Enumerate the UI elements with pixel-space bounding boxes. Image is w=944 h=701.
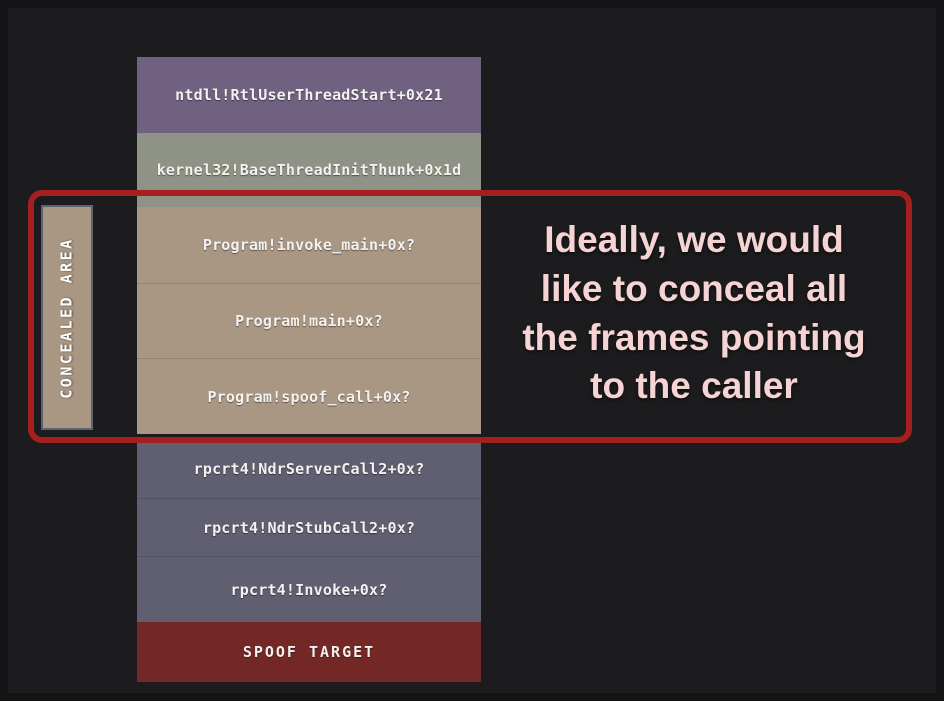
stack-frame: ntdll!RtlUserThreadStart+0x21 (137, 57, 481, 133)
stack-frame-label: rpcrt4!NdrServerCall2+0x? (194, 460, 425, 478)
caption-line: like to conceal all (492, 265, 896, 314)
concealed-area-tab: CONCEALED AREA (41, 205, 93, 430)
caption-text: Ideally, we wouldlike to conceal allthe … (492, 216, 896, 411)
slide-root: ntdll!RtlUserThreadStart+0x21kernel32!Ba… (0, 0, 944, 701)
stack-frame-label: SPOOF TARGET (243, 643, 375, 661)
stack-frame: rpcrt4!NdrServerCall2+0x? (137, 440, 481, 498)
stack-frame: Program!main+0x? (137, 283, 481, 358)
stack-frame: rpcrt4!NdrStubCall2+0x? (137, 498, 481, 556)
stack-frame-label: Program!spoof_call+0x? (207, 388, 410, 406)
caption-line: to the caller (492, 362, 896, 411)
call-stack-diagram: ntdll!RtlUserThreadStart+0x21kernel32!Ba… (137, 57, 481, 682)
stack-frame-label: Program!invoke_main+0x? (203, 236, 415, 254)
stack-frame: Program!spoof_call+0x? (137, 358, 481, 434)
concealed-area-label: CONCEALED AREA (58, 237, 76, 398)
stack-frame-label: rpcrt4!NdrStubCall2+0x? (203, 519, 415, 537)
stack-frame-label: kernel32!BaseThreadInitThunk+0x1d (157, 161, 462, 179)
stack-frame-label: ntdll!RtlUserThreadStart+0x21 (175, 86, 443, 104)
stack-frame: Program!invoke_main+0x? (137, 207, 481, 283)
caption-line: Ideally, we would (492, 216, 896, 265)
stack-frame-label: Program!main+0x? (235, 312, 383, 330)
stack-frame: kernel32!BaseThreadInitThunk+0x1d (137, 133, 481, 207)
stack-frame: rpcrt4!Invoke+0x? (137, 556, 481, 622)
stack-frame-label: rpcrt4!Invoke+0x? (231, 581, 388, 599)
caption-line: the frames pointing (492, 314, 896, 363)
stack-frame: SPOOF TARGET (137, 622, 481, 682)
